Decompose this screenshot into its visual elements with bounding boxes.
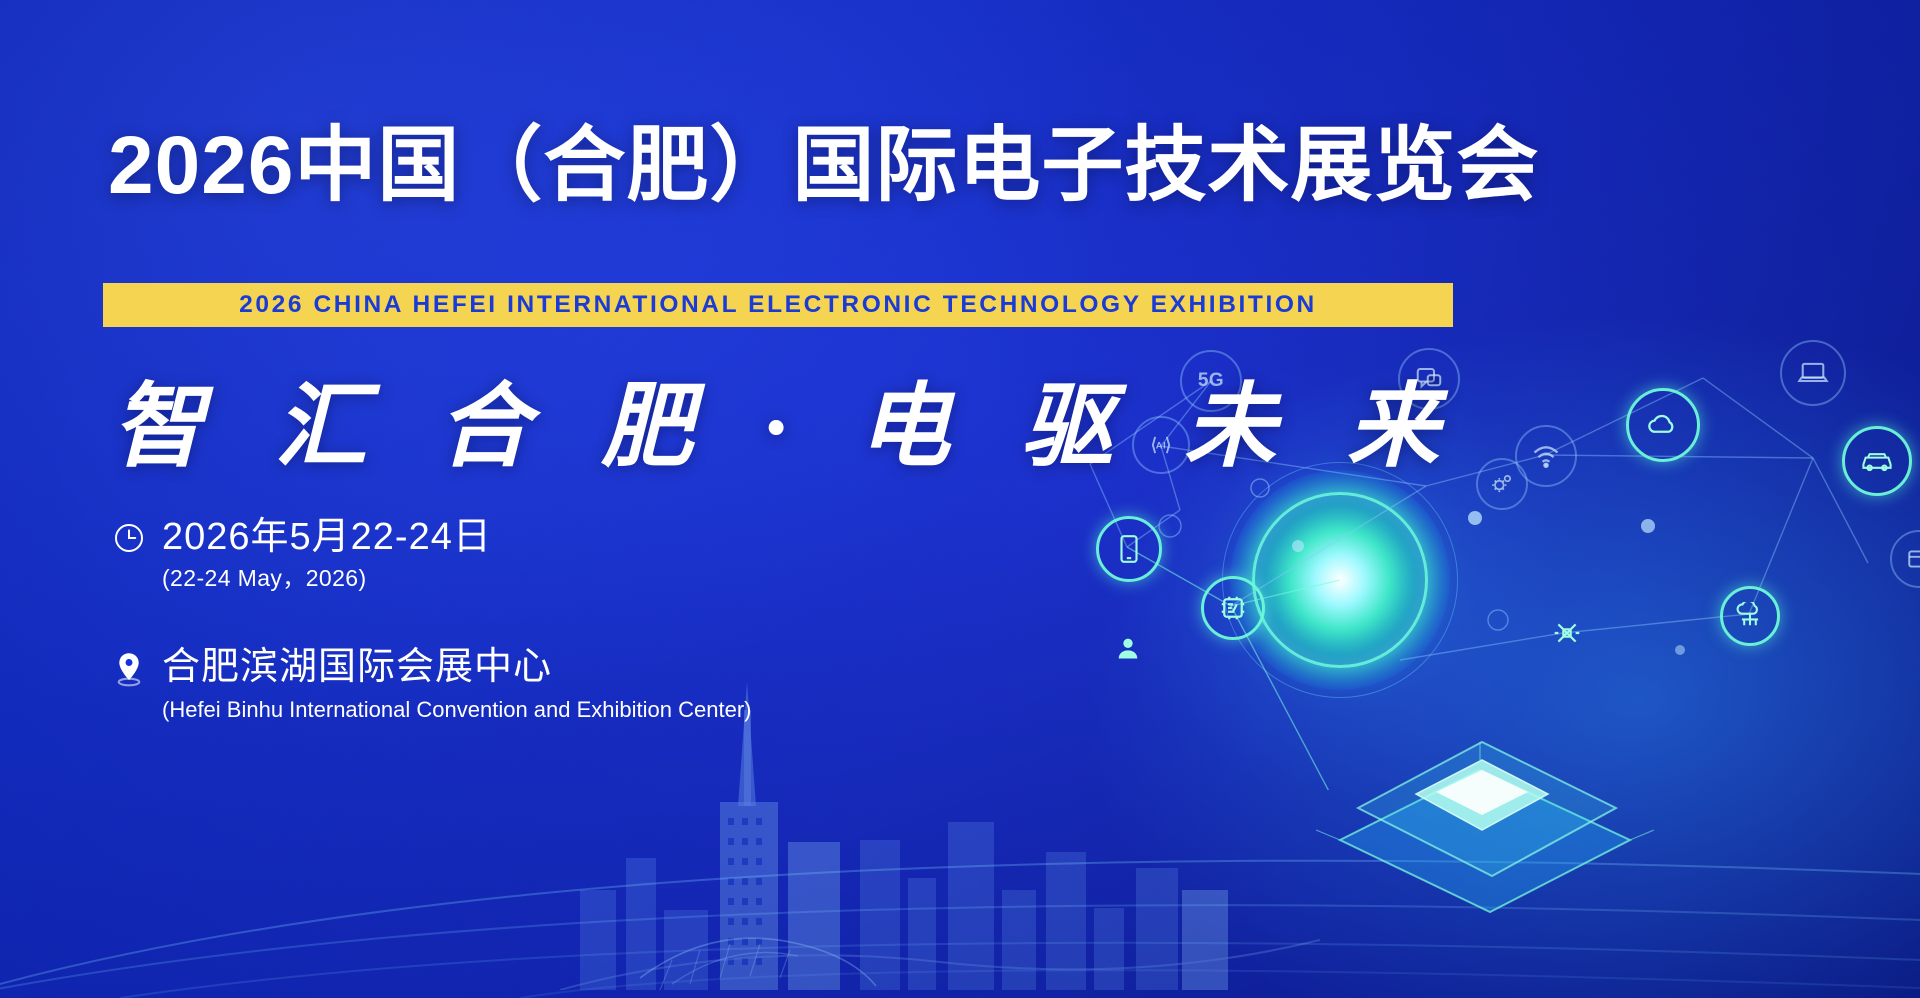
wallet-icon [1906, 548, 1920, 570]
core-glow [1230, 470, 1450, 690]
cloud-icon [1646, 413, 1680, 437]
venue-block: 合肥滨湖国际会展中心 (Hefei Binhu International Co… [112, 645, 751, 725]
wifi-icon [1531, 443, 1561, 469]
node-cloud [1626, 388, 1700, 462]
english-subtitle: 2026 CHINA HEFEI INTERNATIONAL ELECTRONI… [239, 291, 1317, 319]
venue-cn: 合肥滨湖国际会展中心 [162, 645, 552, 689]
chip-plate-graphic [1230, 690, 1660, 920]
slogan-text: 智 汇 合 肥 · 电 驱 未 来 [112, 352, 1072, 485]
cpu-chip-icon [1218, 593, 1248, 623]
user-icon [1114, 634, 1142, 662]
node-car [1842, 426, 1912, 496]
venue-row: 合肥滨湖国际会展中心 [112, 645, 751, 689]
date-cn: 2026年5月22-24日 [162, 515, 492, 559]
gear-icon [1489, 471, 1515, 497]
node-user [1102, 622, 1154, 674]
smartphone-icon [1116, 534, 1142, 564]
exhibition-banner: 5G AI [0, 0, 1920, 998]
date-en: (22-24 May，2026) [162, 563, 751, 593]
cloud-server-icon [1735, 602, 1765, 630]
node-satellite [1538, 604, 1596, 662]
date-row: 2026年5月22-24日 [112, 515, 751, 559]
event-info: 2026年5月22-24日 (22-24 May，2026) 合肥滨湖国际会展中… [112, 515, 751, 725]
english-subtitle-bar: 2026 CHINA HEFEI INTERNATIONAL ELECTRONI… [103, 283, 1453, 327]
page-title: 2026中国（合肥）国际电子技术展览会 [108, 98, 1539, 217]
node-cloud-server [1720, 586, 1780, 646]
ground-arc-lines [0, 698, 1920, 998]
node-cpu [1201, 576, 1265, 640]
node-smartphone [1096, 516, 1162, 582]
core-outer-ring [1222, 462, 1458, 698]
node-gear [1476, 458, 1528, 510]
clock-icon [112, 521, 146, 555]
location-pin-icon [112, 651, 146, 685]
node-wifi [1515, 425, 1577, 487]
laptop-icon [1797, 360, 1829, 386]
car-icon [1860, 449, 1894, 473]
slogan-block: 智 汇 合 肥 · 电 驱 未 来 [112, 352, 1072, 482]
satellite-icon [1551, 617, 1583, 649]
node-wallet [1890, 530, 1920, 588]
node-laptop [1780, 340, 1846, 406]
core-ring [1252, 492, 1428, 668]
venue-en: (Hefei Binhu International Convention an… [162, 695, 751, 725]
